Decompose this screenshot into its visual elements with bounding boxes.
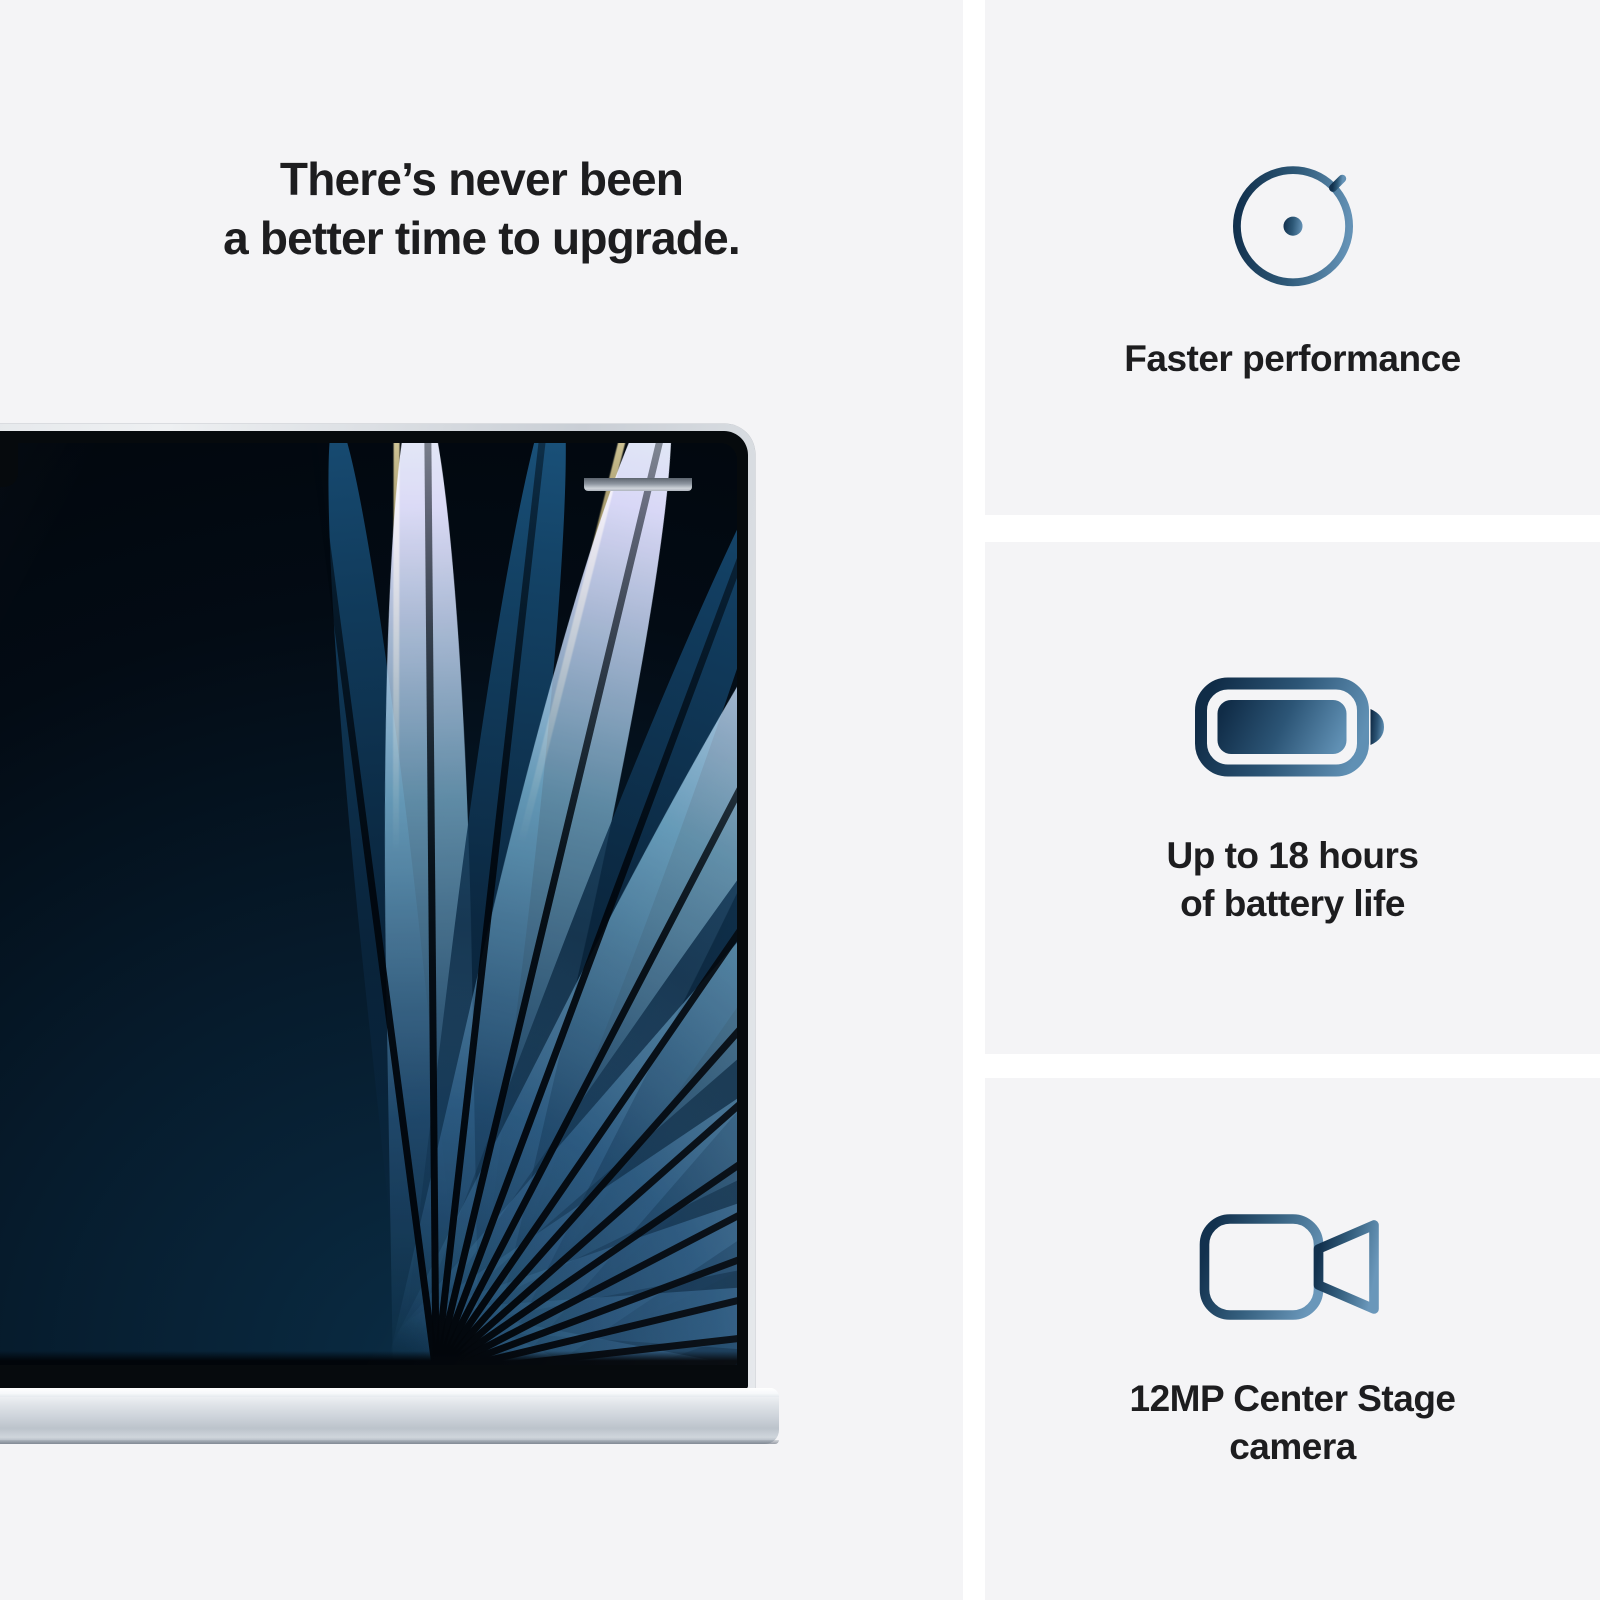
feature-card-center-stage-camera[interactable]: 12MP Center Stage camera [985, 1078, 1600, 1600]
feature-card-label: 12MP Center Stage camera [1130, 1375, 1456, 1471]
macbook-air-product-image [0, 424, 770, 1434]
feature-card-faster-performance[interactable]: Faster performance [985, 0, 1600, 515]
desktop-wallpaper [0, 443, 737, 1365]
hero-headline: There’s never been a better time to upgr… [0, 150, 963, 268]
laptop-base [0, 1388, 779, 1444]
feature-card-label: Up to 18 hours of battery life [1166, 832, 1418, 928]
base-top-lip [0, 1388, 779, 1397]
laptop-rubber-foot [584, 478, 692, 491]
stopwatch-icon [1208, 131, 1378, 301]
feature-card-battery-life[interactable]: Up to 18 hours of battery life [985, 542, 1600, 1054]
hero-panel: There’s never been a better time to upgr… [0, 0, 963, 1600]
base-bottom-edge [0, 1440, 779, 1444]
battery-full-icon [1195, 668, 1390, 786]
laptop-screen [0, 443, 737, 1365]
feature-card-label: Faster performance [1124, 335, 1460, 383]
video-camera-icon [1197, 1207, 1389, 1327]
screen-chin [0, 1351, 737, 1365]
product-marketing-page: There’s never been a better time to upgr… [0, 0, 1600, 1600]
display-bezel [0, 431, 748, 1389]
laptop-lid [0, 424, 755, 1396]
feature-card-list: Faster performance Up to 18 hou [985, 0, 1600, 1600]
display-notch [0, 443, 18, 487]
